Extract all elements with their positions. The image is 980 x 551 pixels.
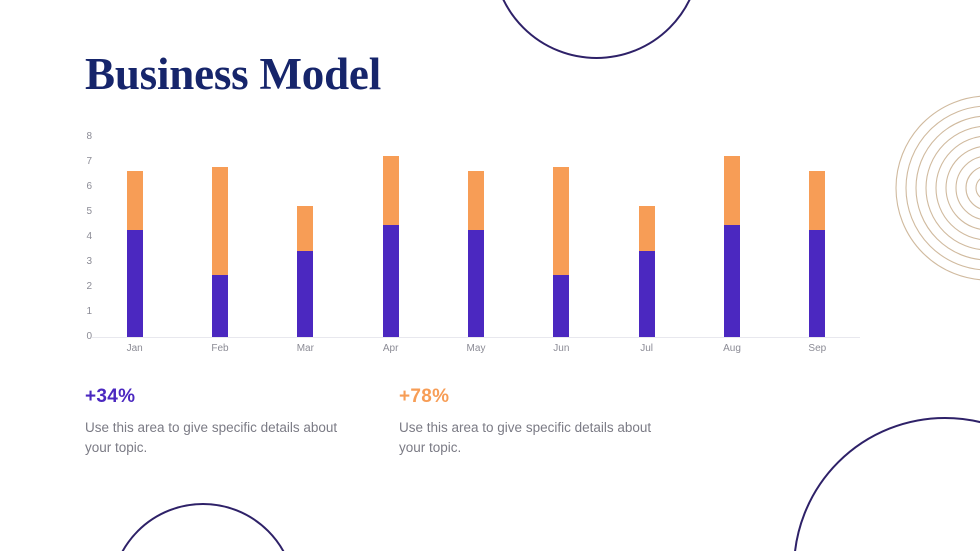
bar-segment-upper[interactable] xyxy=(212,167,228,275)
y-axis-tick: 8 xyxy=(72,132,92,142)
bar-segment-lower[interactable] xyxy=(468,230,484,338)
bar-may[interactable] xyxy=(468,171,484,337)
stat-value: +78% xyxy=(399,386,719,408)
bar-sep[interactable] xyxy=(809,171,825,337)
y-axis-tick: 4 xyxy=(72,232,92,242)
y-axis-tick: 5 xyxy=(72,207,92,217)
bar-segment-upper[interactable] xyxy=(553,167,569,275)
bar-segment-upper[interactable] xyxy=(468,171,484,230)
stat-block: +78% Use this area to give specific deta… xyxy=(399,386,719,458)
bar-aug[interactable] xyxy=(724,156,740,337)
bar-segment-upper[interactable] xyxy=(127,171,143,230)
bar-segment-lower[interactable] xyxy=(212,275,228,338)
y-axis-labels: 012345678 xyxy=(72,133,92,343)
x-axis-tick-sep: Sep xyxy=(787,343,847,355)
bar-segment-upper[interactable] xyxy=(809,171,825,230)
bar-jul[interactable] xyxy=(639,206,655,337)
x-axis-tick-jun: Jun xyxy=(531,343,591,355)
x-axis-line xyxy=(92,337,860,338)
bottom-left-circle-outline-icon xyxy=(110,503,296,551)
bar-segment-upper[interactable] xyxy=(383,156,399,225)
x-axis-tick-jul: Jul xyxy=(617,343,677,355)
bar-mar[interactable] xyxy=(297,206,313,337)
bar-segment-lower[interactable] xyxy=(809,230,825,338)
bar-segment-lower[interactable] xyxy=(724,225,740,338)
x-axis-tick-aug: Aug xyxy=(702,343,762,355)
x-axis-tick-mar: Mar xyxy=(275,343,335,355)
y-axis-tick: 6 xyxy=(72,182,92,192)
bar-segment-lower[interactable] xyxy=(127,230,143,338)
stat-description: Use this area to give specific details a… xyxy=(399,418,659,458)
chart-plot-area xyxy=(92,137,860,337)
stat-value: +34% xyxy=(85,386,405,408)
bar-segment-upper[interactable] xyxy=(724,156,740,225)
bar-segment-lower[interactable] xyxy=(383,225,399,338)
slide-canvas: Business Model 012345678 JanFebMarAprMay… xyxy=(0,0,980,551)
bar-segment-lower[interactable] xyxy=(553,275,569,338)
y-axis-tick: 0 xyxy=(72,332,92,342)
stat-block: +34% Use this area to give specific deta… xyxy=(85,386,405,458)
bar-segment-lower[interactable] xyxy=(639,251,655,337)
y-axis-tick: 2 xyxy=(72,282,92,292)
bar-segment-upper[interactable] xyxy=(639,206,655,251)
bar-jun[interactable] xyxy=(553,167,569,337)
x-axis-tick-apr: Apr xyxy=(361,343,421,355)
bottom-right-circle-outline-icon xyxy=(793,417,980,551)
bar-segment-upper[interactable] xyxy=(297,206,313,251)
bar-segment-lower[interactable] xyxy=(297,251,313,337)
bar-jan[interactable] xyxy=(127,171,143,337)
stat-description: Use this area to give specific details a… xyxy=(85,418,345,458)
bar-apr[interactable] xyxy=(383,156,399,337)
x-axis-tick-may: May xyxy=(446,343,506,355)
y-axis-tick: 3 xyxy=(72,257,92,267)
x-axis-tick-jan: Jan xyxy=(105,343,165,355)
x-axis-tick-feb: Feb xyxy=(190,343,250,355)
x-axis-labels: JanFebMarAprMayJunJulAugSep xyxy=(92,343,860,359)
bar-feb[interactable] xyxy=(212,167,228,337)
y-axis-tick: 1 xyxy=(72,307,92,317)
y-axis-tick: 7 xyxy=(72,157,92,167)
stacked-bar-chart: 012345678 JanFebMarAprMayJunJulAugSep xyxy=(0,0,980,365)
